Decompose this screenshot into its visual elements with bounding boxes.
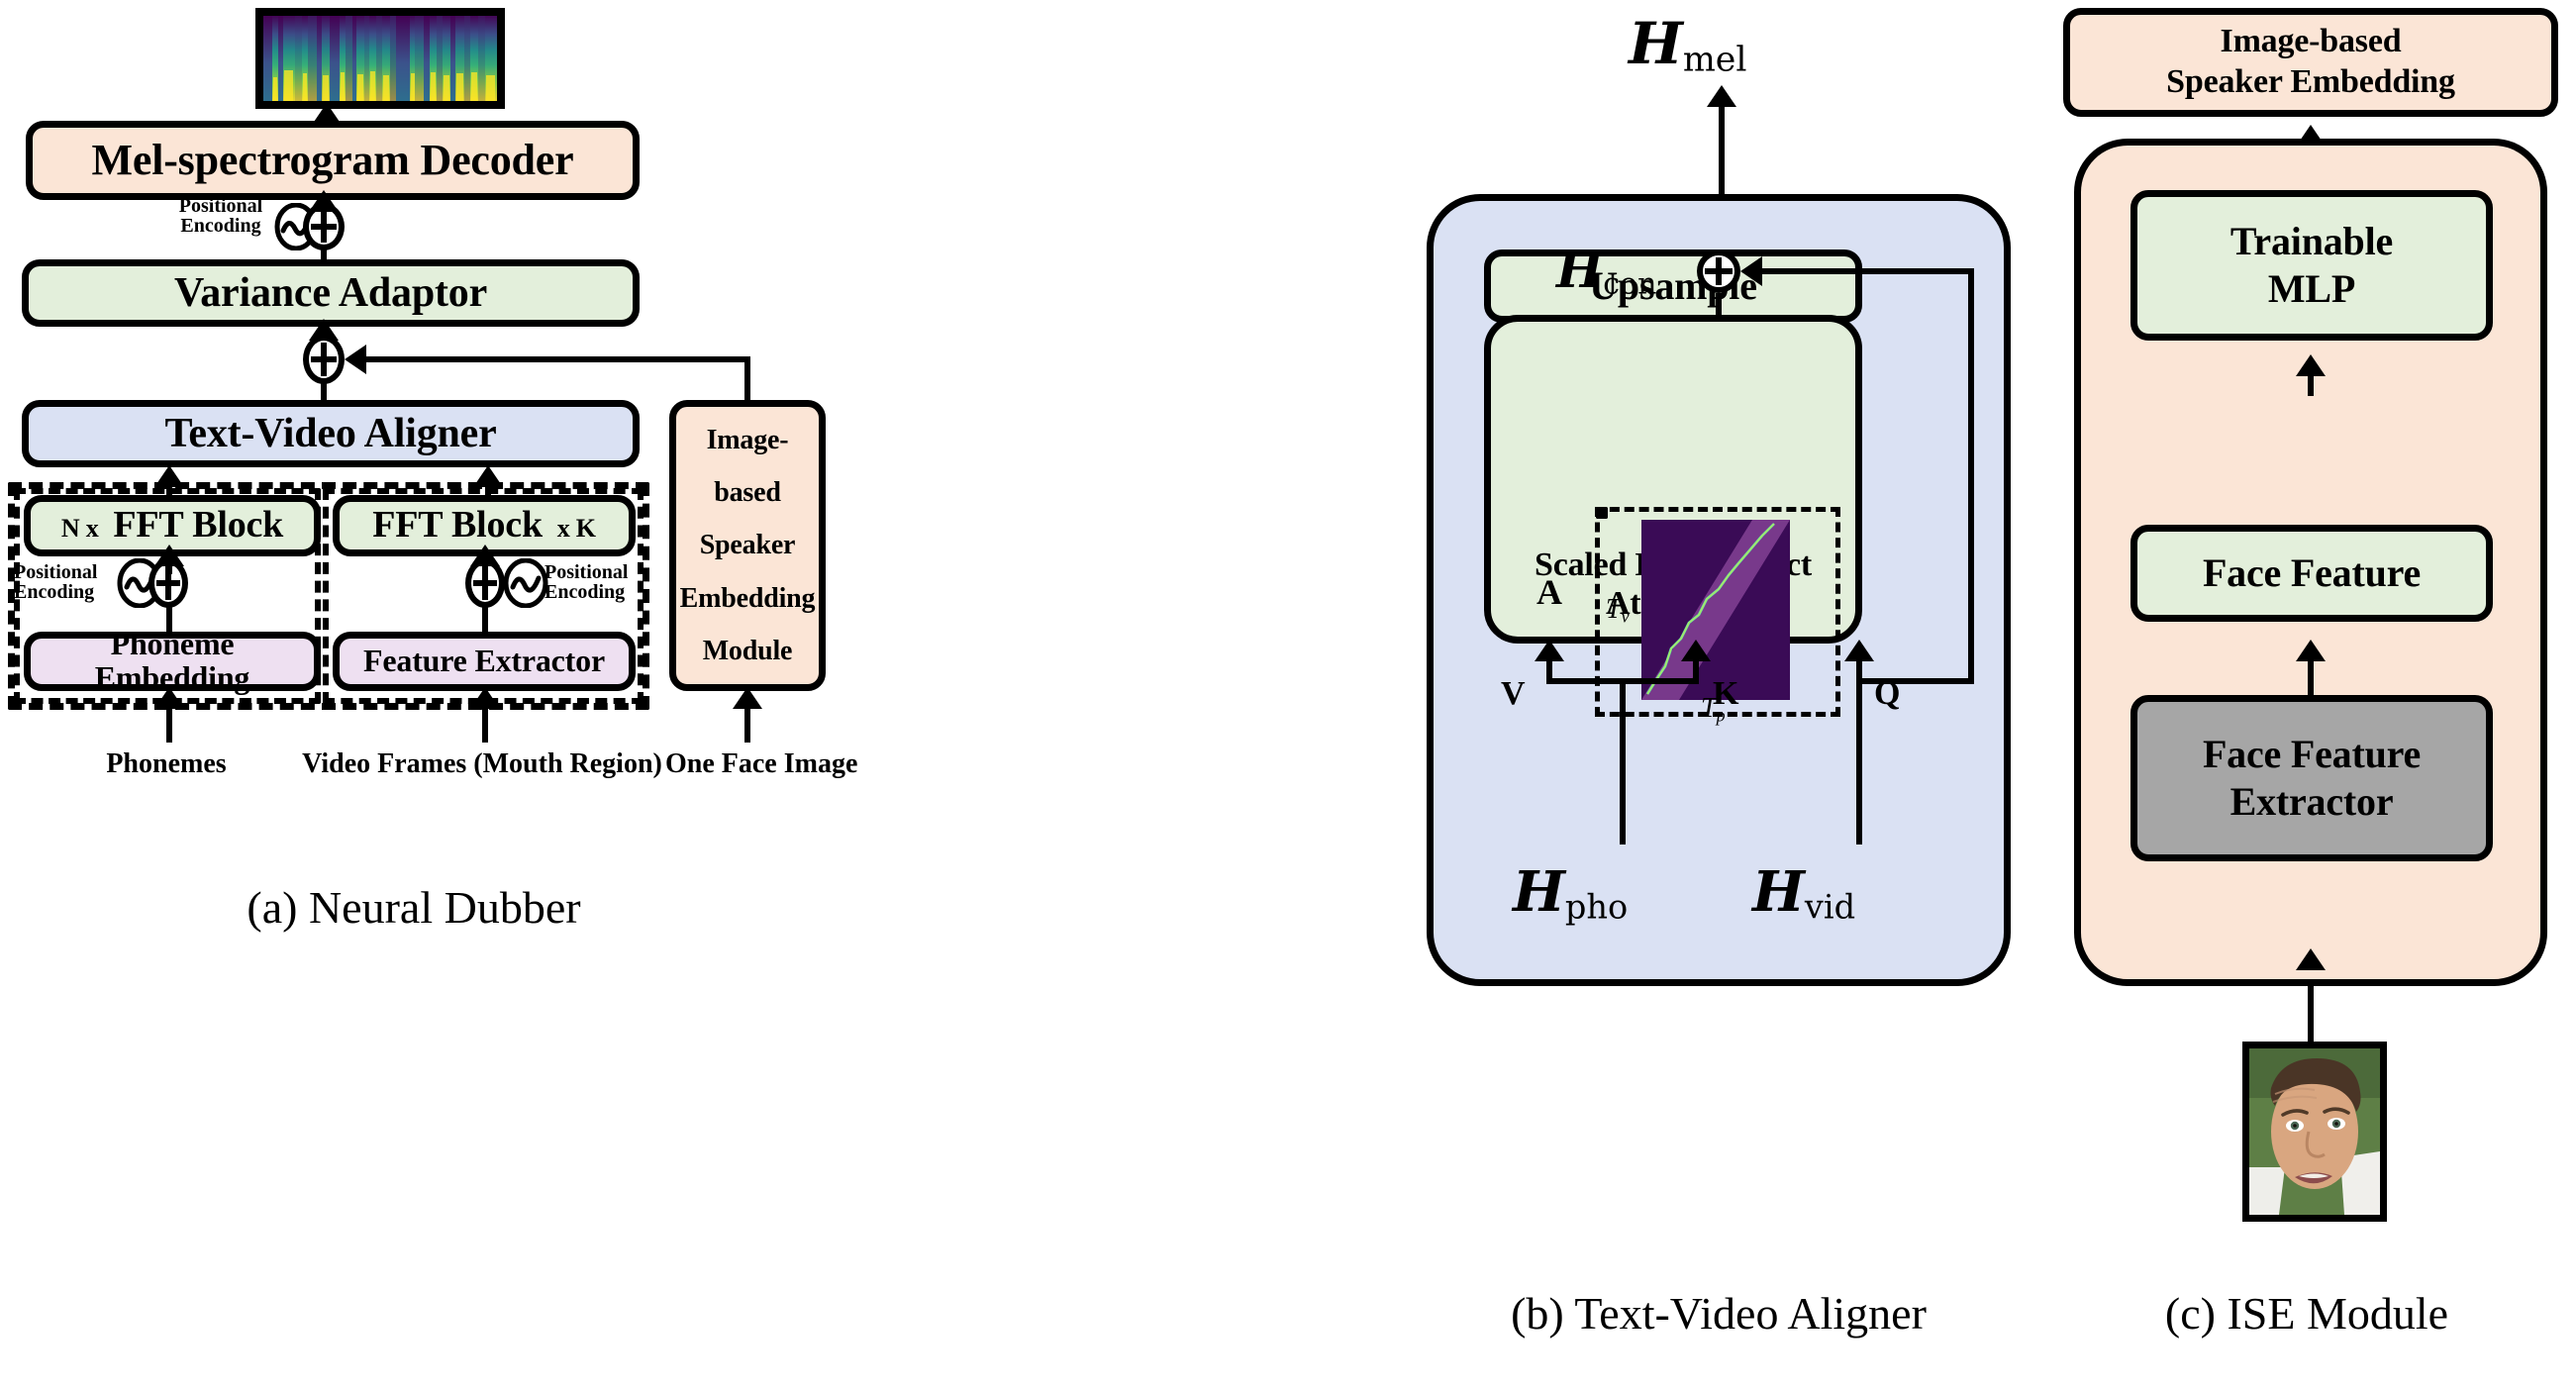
connector-hpho-up xyxy=(1620,678,1626,845)
mel-spectrogram-image xyxy=(255,8,505,109)
input-label-face-image: One Face Image xyxy=(665,750,832,778)
panel-caption-a: (a) Neural Dubber xyxy=(137,881,691,934)
arrowhead-residual xyxy=(1740,256,1762,286)
input-face-image xyxy=(2242,1042,2387,1222)
fft-right-content: FFT Block x K xyxy=(372,506,596,546)
arrowhead-image-to-extractor xyxy=(2296,948,2326,970)
connector-hvid-up xyxy=(1856,678,1862,845)
fft-left-content: N x FFT Block xyxy=(61,506,283,546)
residual-symbol-h-con-text: Hcon xyxy=(1556,241,1656,302)
h-pho-base: H xyxy=(1513,859,1565,925)
block-feature-extractor[interactable]: Feature Extractor xyxy=(333,632,636,691)
block-image-based-speaker-embedding[interactable]: Image-basedSpeaker Embedding xyxy=(2063,8,2558,117)
block-label: Feature Extractor xyxy=(363,645,605,678)
sine-wave-icon-right xyxy=(503,558,548,608)
arrowhead-video-input xyxy=(470,687,500,709)
input-label-video-frames: Video Frames (Mouth Region) xyxy=(284,750,680,778)
spectrogram-svg xyxy=(263,16,497,101)
h-pho-sub: pho xyxy=(1565,887,1628,926)
arrowhead-q xyxy=(1844,640,1874,661)
block-variance-adaptor[interactable]: Variance Adaptor xyxy=(22,259,640,327)
input-label-phonemes: Phonemes xyxy=(67,750,265,778)
fft-right-label: FFT Block xyxy=(372,504,543,546)
label-v: V xyxy=(1501,677,1526,711)
block-label: Text-Video Aligner xyxy=(164,412,496,455)
block-face-feature[interactable]: Face Feature xyxy=(2130,525,2493,622)
h-vid-sub: vid xyxy=(1805,887,1855,926)
attention-matrix-image xyxy=(1641,520,1790,700)
block-label: Variance Adaptor xyxy=(174,271,487,315)
oplus-icon-residual xyxy=(1697,249,1740,293)
connector-attention-to-oplus xyxy=(1716,293,1722,317)
arrowhead-face-input xyxy=(733,687,762,709)
block-label: Face FeatureExtractor xyxy=(2203,731,2421,826)
arrowhead-posenc-right-up xyxy=(470,545,500,566)
panel-caption-c: (c) ISE Module xyxy=(2059,1287,2554,1340)
input-symbol-h-vid: Hvid xyxy=(1752,859,1855,926)
connector-ise-to-oplus xyxy=(352,356,750,362)
block-label: Mel-spectrogram Decoder xyxy=(92,138,574,183)
arrowhead-phonemes-input xyxy=(154,687,184,709)
figure-canvas: Mel-spectrogram Decoder PositionalEncodi… xyxy=(0,0,2576,1392)
connector-residual-horizontal xyxy=(1748,268,1974,274)
block-label: Face Feature xyxy=(2203,552,2421,594)
oplus-icon-aligner-speaker xyxy=(303,335,345,384)
positional-encoding-label-left: PositionalEncoding xyxy=(14,562,119,603)
block-phoneme-embedding[interactable]: Phoneme Embedding xyxy=(24,632,321,691)
arrowhead-v xyxy=(1535,640,1564,661)
block-mel-spectrogram-decoder[interactable]: Mel-spectrogram Decoder xyxy=(26,121,640,200)
attention-matrix-name-label: A xyxy=(1536,574,1562,610)
block-label: Phoneme Embedding xyxy=(31,628,314,694)
arrowhead-posenc-left-up xyxy=(154,545,184,566)
h-mel-base: H xyxy=(1629,10,1683,77)
connector-image-to-extractor xyxy=(2308,980,2314,1042)
arrowhead-facefeature-to-mlp xyxy=(2296,354,2326,376)
block-text-video-aligner[interactable]: Text-Video Aligner xyxy=(22,400,640,467)
block-label: Image-basedSpeaker Embedding xyxy=(2166,22,2455,103)
face-photo-svg xyxy=(2249,1048,2380,1215)
block-label: TrainableMLP xyxy=(2230,218,2393,313)
spectrogram-canvas xyxy=(263,16,497,101)
positional-encoding-label-decoder: PositionalEncoding xyxy=(166,196,275,237)
panel-caption-b: (b) Text-Video Aligner xyxy=(1422,1287,2016,1340)
tv-base: T xyxy=(1606,594,1622,625)
h-con-sub: con xyxy=(1603,267,1656,302)
block-trainable-mlp[interactable]: TrainableMLP xyxy=(2130,190,2493,341)
arrowhead-aligner-output xyxy=(1707,85,1736,107)
block-face-feature-extractor[interactable]: Face FeatureExtractor xyxy=(2130,695,2493,861)
connector-residual-vertical xyxy=(1968,268,1974,684)
arrowhead-ise-to-oplus xyxy=(345,345,366,374)
arrowhead-extractor-to-facefeature xyxy=(2296,640,2326,661)
label-k: K xyxy=(1713,677,1738,711)
label-q: Q xyxy=(1874,677,1900,711)
connector-ise-vertical xyxy=(744,356,750,400)
block-upsample[interactable]: Upsample xyxy=(1484,249,1862,323)
attention-axis-label-tv: Tv xyxy=(1606,594,1630,627)
block-ise-module[interactable]: Image-basedSpeakerEmbeddingModule xyxy=(669,400,826,691)
h-con-base: H xyxy=(1556,241,1603,299)
arrowhead-k xyxy=(1681,640,1711,661)
arrowhead-posenc-to-decoder xyxy=(309,190,339,212)
ise-module-label: Image-basedSpeakerEmbeddingModule xyxy=(676,414,819,677)
h-vid-base: H xyxy=(1752,859,1805,925)
fft-left-prefix: N x xyxy=(61,514,99,543)
fft-left-label: FFT Block xyxy=(113,504,283,546)
tv-sub: v xyxy=(1622,606,1630,626)
positional-encoding-label-right: PositionalEncoding xyxy=(545,562,651,603)
connector-featext-to-posenc xyxy=(482,606,488,634)
input-symbol-h-pho: Hpho xyxy=(1513,859,1628,926)
output-symbol-h-mel: Hmel xyxy=(1629,10,1747,80)
fft-right-suffix: x K xyxy=(557,514,596,543)
attention-matrix-svg xyxy=(1641,520,1790,700)
h-mel-sub: mel xyxy=(1683,41,1747,80)
